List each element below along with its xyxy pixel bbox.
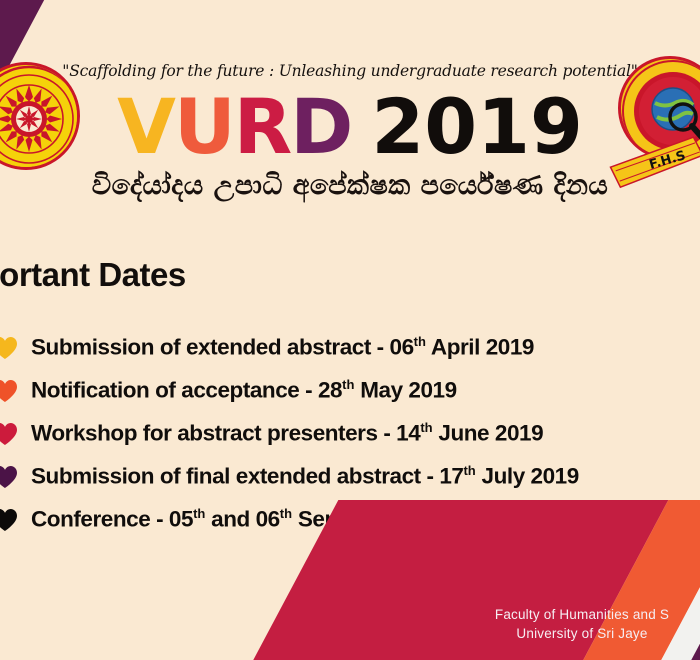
date-item: Workshop for abstract presenters - 14th …	[0, 412, 700, 455]
date-item-ordinal-2: th	[280, 506, 292, 521]
date-item-text: Workshop for abstract presenters - 14th …	[31, 420, 543, 447]
date-item-label: Conference - 05	[31, 507, 193, 532]
heart-bullet-icon	[0, 336, 18, 360]
date-item-label: Notification of acceptance - 28	[31, 378, 342, 403]
heart-bullet-icon	[0, 422, 18, 446]
wordmark-letter-d: D	[290, 88, 351, 166]
date-item: Submission of final extended abstract - …	[0, 455, 700, 498]
date-item: Submission of extended abstract - 06th A…	[0, 326, 700, 369]
date-item-ordinal: th	[193, 506, 205, 521]
heart-bullet-icon	[0, 465, 18, 489]
poster-subtitle-sinhala: විදේ‍යා්දය උපාධි අපේක්ෂක පර්යේෂණ දිනය	[0, 170, 700, 202]
date-item-tail: April 2019	[426, 335, 534, 360]
date-item-ordinal: th	[420, 420, 432, 435]
date-item-ordinal: th	[414, 334, 426, 349]
footer-line-2: University of Sri Jaye	[432, 624, 700, 644]
heart-bullet-icon	[0, 379, 18, 403]
date-item-text: Submission of extended abstract - 06th A…	[31, 334, 534, 361]
date-item-text: Submission of final extended abstract - …	[31, 463, 579, 490]
vurd-wordmark: VURD2019	[0, 88, 700, 166]
wordmark-year: 2019	[371, 88, 583, 166]
date-item-ordinal: th	[463, 463, 475, 478]
date-item-tail: July 2019	[476, 464, 579, 489]
footer-line-1: Faculty of Humanities and S	[432, 605, 700, 625]
date-item-label: Workshop for abstract presenters - 14	[31, 421, 420, 446]
date-item-label: Submission of final extended abstract - …	[31, 464, 463, 489]
poster-tagline: "Scaffolding for the future : Unleashing…	[0, 62, 700, 80]
date-item-ordinal: th	[342, 377, 354, 392]
heart-bullet-icon	[0, 508, 18, 532]
wordmark-letter-u: U	[174, 88, 234, 166]
date-item-label: Submission of extended abstract - 06	[31, 335, 414, 360]
footer-organisation: Faculty of Humanities and S University o…	[406, 605, 700, 644]
important-dates-heading: Important Dates	[0, 256, 186, 294]
date-item-tail: June 2019	[433, 421, 544, 446]
vurd-2019-poster: ශ්‍රී ලංකා විශ්වවිද්‍යාලය Vidyodaya U	[0, 0, 700, 660]
wordmark-letter-v: V	[117, 88, 174, 166]
date-item-tail: and 06	[205, 507, 279, 532]
date-item-text: Notification of acceptance - 28th May 20…	[31, 377, 457, 404]
wordmark-letter-r: R	[234, 88, 291, 166]
date-item: Notification of acceptance - 28th May 20…	[0, 369, 700, 412]
poster-header: ශ්‍රී ලංකා විශ්වවිද්‍යාලය Vidyodaya U	[0, 0, 700, 232]
date-item-tail: May 2019	[354, 378, 456, 403]
